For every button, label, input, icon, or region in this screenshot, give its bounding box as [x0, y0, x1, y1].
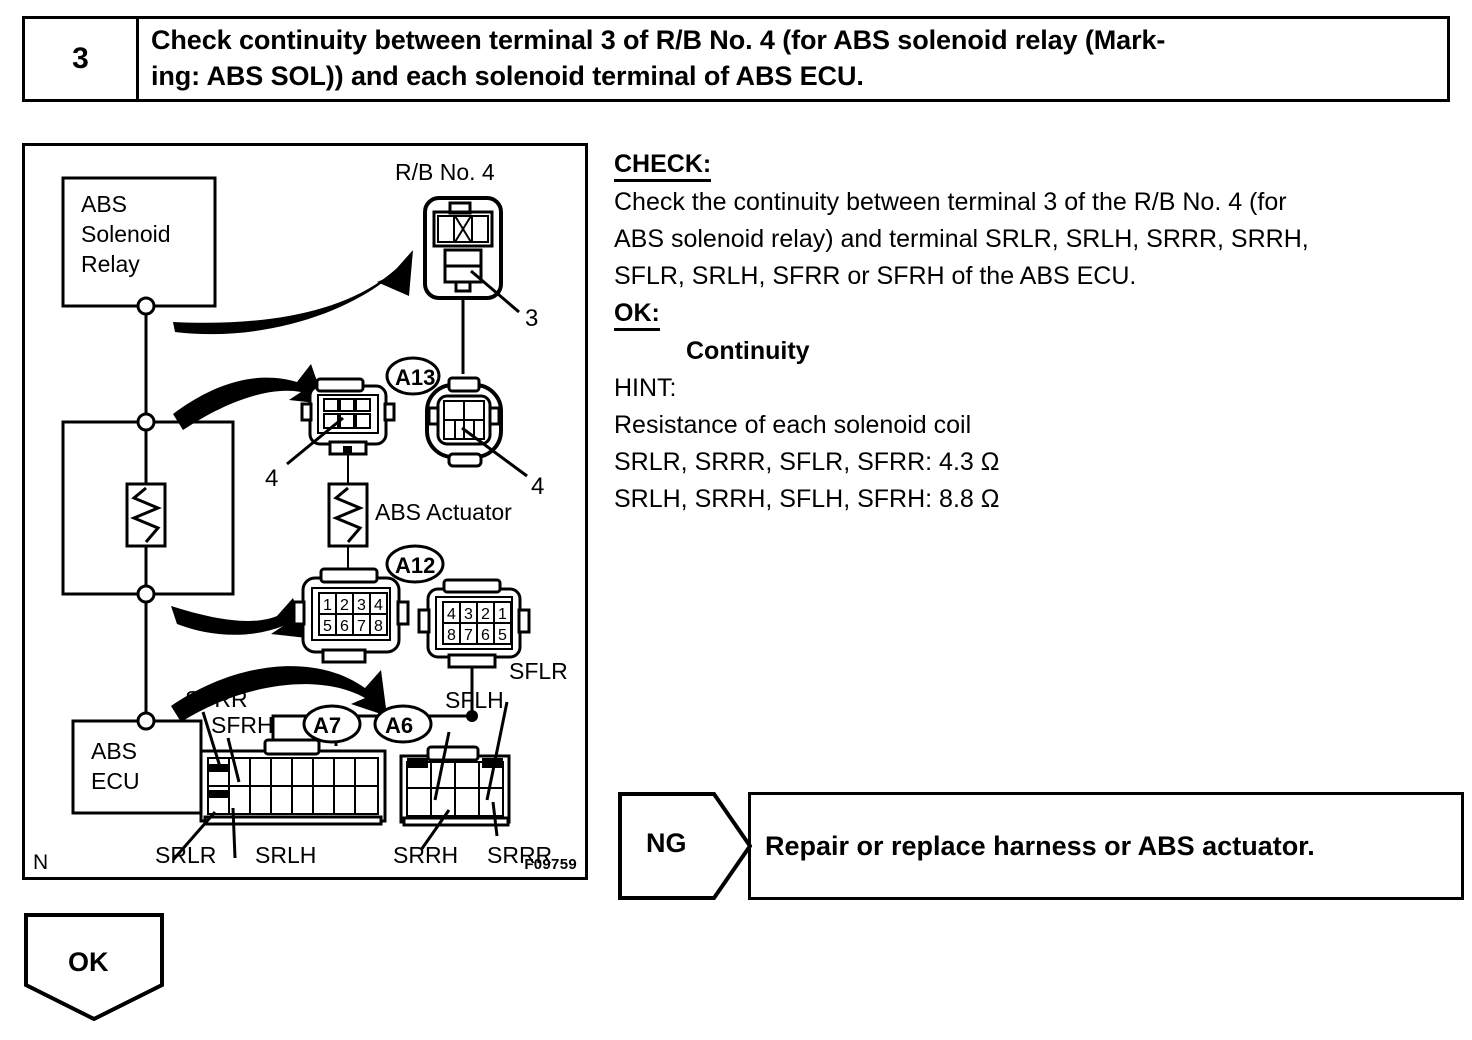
rb-no4-label: R/B No. 4 [395, 159, 495, 185]
ng-result-block: NG Repair or replace harness or ABS actu… [618, 792, 1464, 900]
junction-node-solenoid-bottom [138, 586, 154, 602]
a12-pin-6: 6 [340, 618, 349, 635]
check-heading-row: CHECK: [614, 146, 1464, 184]
a12m-pin-1: 1 [498, 606, 507, 623]
hint-heading: HINT: [614, 370, 1464, 407]
ok-tag-label: OK [68, 947, 109, 978]
hint-line-2: SRLR, SRRR, SFLR, SFRR: 4.3 Ω [614, 444, 1464, 481]
srlr-label: SRLR [155, 842, 216, 868]
ok-heading-row: OK: [614, 295, 1464, 333]
a12-pin-3: 3 [357, 597, 366, 614]
connector-a6 [401, 747, 509, 825]
step-title-line-2: ing: ABS SOL)) and each solenoid termina… [151, 59, 1437, 95]
ng-tag-label: NG [646, 828, 687, 859]
junction-node-ecu [138, 713, 154, 729]
a12-pin-7: 7 [357, 618, 366, 635]
connector-a7-label: A7 [313, 713, 341, 738]
a12-pin-5: 5 [323, 618, 332, 635]
rb-terminal-number: 3 [525, 305, 538, 332]
a12m-pin-4: 4 [447, 606, 456, 623]
srlh-label: SRLH [255, 842, 316, 868]
a12m-pin-6: 6 [481, 627, 490, 644]
sflh-label: SFLH [445, 687, 504, 713]
sfrr-label: SFRR [185, 686, 248, 712]
sflr-label: SFLR [509, 658, 568, 684]
a12-pin-1: 1 [323, 597, 332, 614]
junction-node-relay [138, 298, 154, 314]
connector-a12-label: A12 [395, 553, 435, 578]
ok-value: Continuity [614, 333, 1464, 370]
a12m-pin-3: 3 [464, 606, 473, 623]
connector-a12: 1 2 3 4 5 6 7 8 [294, 569, 408, 662]
connector-a7 [201, 740, 385, 824]
hint-line-1: Resistance of each solenoid coil [614, 407, 1464, 444]
a12-pin-2: 2 [340, 597, 349, 614]
solenoid-coil-symbol-middle [329, 484, 367, 546]
connector-a12-mating: 4 3 2 1 8 7 6 5 [419, 580, 529, 667]
connector-actuator-round [427, 378, 501, 466]
connector-a13-label: A13 [395, 365, 435, 390]
abs-solenoid-relay-label-1: ABS [81, 191, 127, 217]
callout-arrow-to-a12 [171, 598, 307, 638]
ok-result-block: OK [24, 913, 164, 1021]
check-line-2: ABS solenoid relay) and terminal SRLR, S… [614, 221, 1464, 258]
step-header-box: 3 Check continuity between terminal 3 of… [22, 16, 1450, 102]
connector-a6-label: A6 [385, 713, 413, 738]
a13-pin-number: 4 [265, 465, 278, 492]
solenoid-coil-symbol-left [127, 484, 165, 546]
sfrh-label: SFRH [211, 712, 274, 738]
actuator-pin-number-right: 4 [531, 473, 544, 500]
hint-line-3: SRLH, SRRH, SFLH, SFRH: 8.8 Ω [614, 481, 1464, 518]
a12m-pin-5: 5 [498, 627, 507, 644]
junction-node-solenoid-top [138, 414, 154, 430]
abs-ecu-label-1: ABS [91, 738, 137, 764]
check-line-1: Check the continuity between terminal 3 … [614, 184, 1464, 221]
check-heading: CHECK: [614, 149, 711, 182]
step-title: Check continuity between terminal 3 of R… [139, 19, 1447, 99]
wiring-diagram-panel: ABS Solenoid Relay ABS ECU R/B No. 4 3 [22, 143, 588, 880]
a12-pin-8: 8 [374, 618, 383, 635]
abs-ecu-box [73, 721, 201, 813]
abs-solenoid-relay-label-3: Relay [81, 251, 140, 277]
abs-solenoid-relay-label-2: Solenoid [81, 221, 171, 247]
a12m-pin-7: 7 [464, 627, 473, 644]
ok-heading: OK: [614, 298, 660, 331]
a12-pin-4: 4 [374, 597, 383, 614]
step-title-line-1: Check continuity between terminal 3 of R… [151, 23, 1437, 59]
a12m-pin-2: 2 [481, 606, 490, 623]
step-number: 3 [25, 19, 139, 99]
wiring-diagram-svg: ABS Solenoid Relay ABS ECU R/B No. 4 3 [25, 146, 585, 877]
abs-actuator-label: ABS Actuator [375, 499, 512, 525]
abs-ecu-label-2: ECU [91, 768, 140, 794]
ng-action-text: Repair or replace harness or ABS actuato… [748, 792, 1464, 900]
srlh-leader-line [233, 808, 235, 858]
callout-arrow-to-rb [173, 250, 413, 334]
procedure-text-panel: CHECK: Check the continuity between term… [614, 146, 1464, 518]
diagram-frame-letter: N [33, 851, 48, 875]
check-line-3: SFLR, SRLH, SFRR or SFRH of the ABS ECU. [614, 258, 1464, 295]
srrh-label: SRRH [393, 842, 458, 868]
a12m-pin-8: 8 [447, 627, 456, 644]
connector-a13 [302, 379, 394, 454]
figure-code: F09759 [524, 856, 577, 873]
